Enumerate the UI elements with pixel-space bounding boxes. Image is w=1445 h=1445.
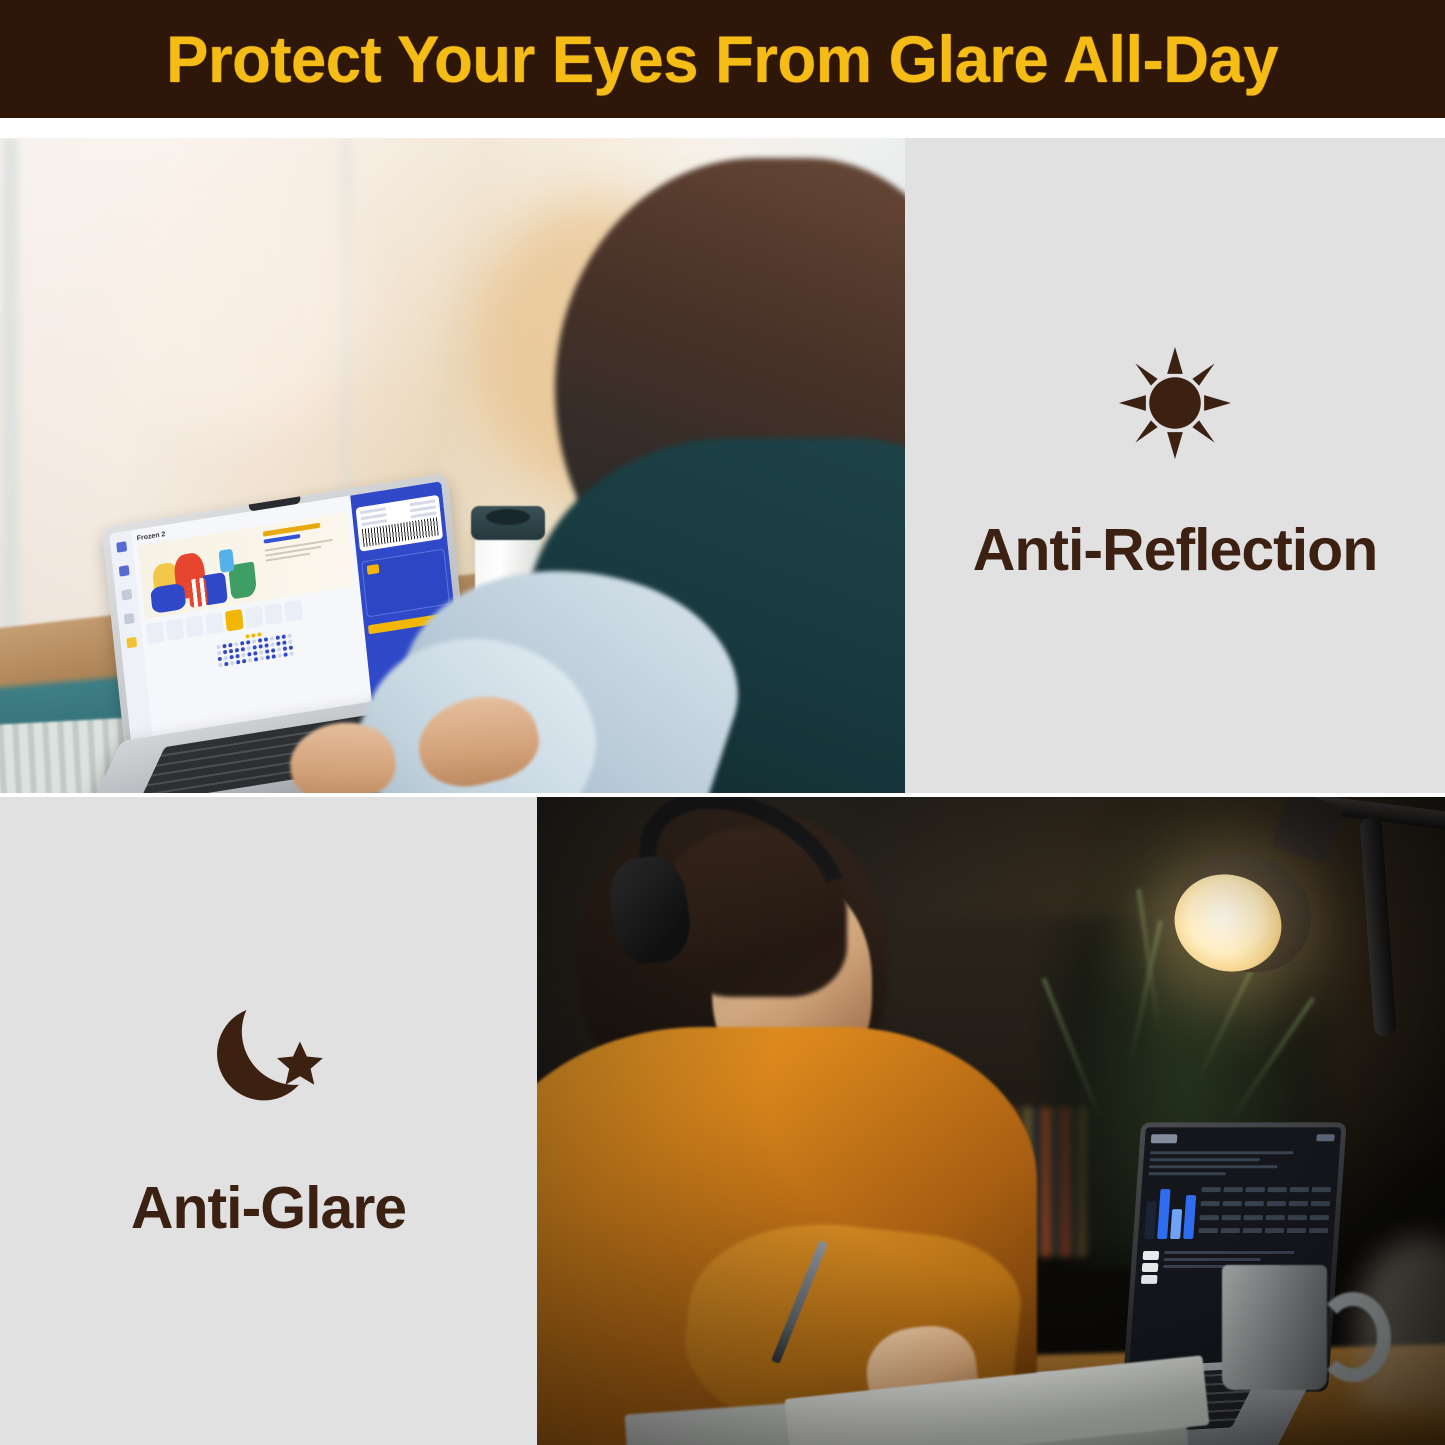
calendar-cell: [1266, 1215, 1285, 1220]
seat: [235, 654, 239, 659]
calendar-grid: [1198, 1187, 1331, 1239]
seat: [246, 640, 250, 645]
seat: [259, 650, 263, 655]
card-chip-icon: [367, 564, 380, 575]
calendar-cell: [1199, 1228, 1218, 1233]
seat: [253, 645, 257, 650]
hero-illustration: [138, 526, 265, 619]
seat: [235, 648, 239, 653]
calendar-cell: [1311, 1201, 1330, 1206]
dashboard-header: [1151, 1134, 1335, 1143]
date-chip: [284, 600, 303, 623]
seat: [272, 654, 276, 659]
page-title: Protect Your Eyes From Glare All-Day: [167, 26, 1279, 92]
seat: [278, 653, 282, 658]
hero-text-block: [257, 512, 354, 600]
dashboard-logo: [1151, 1134, 1178, 1143]
chart-bar: [1157, 1189, 1171, 1239]
feature-row-anti-reflection: Frozen 2: [0, 138, 1445, 793]
seat: [252, 639, 256, 644]
seat: [218, 657, 222, 662]
footer-thumb: [1142, 1263, 1159, 1272]
calendar-cell: [1288, 1215, 1307, 1220]
calendar-cell: [1200, 1215, 1219, 1220]
date-chip: [185, 615, 204, 638]
home-icon: [119, 565, 130, 577]
calendar-cell: [1244, 1215, 1263, 1220]
seat: [248, 658, 252, 663]
feature-panel-anti-glare: Anti-Glare: [0, 797, 537, 1445]
seat: [283, 652, 287, 657]
chart-bar: [1144, 1201, 1157, 1239]
search-icon: [121, 589, 132, 601]
calendar-cell: [1245, 1201, 1264, 1206]
seat: [229, 649, 233, 654]
seat: [287, 633, 291, 638]
header-banner: Protect Your Eyes From Glare All-Day: [0, 0, 1445, 118]
dashboard-text-line: [1149, 1165, 1278, 1168]
dashboard-text-line: [1164, 1258, 1262, 1261]
seat: [264, 643, 268, 648]
seat: [236, 660, 240, 665]
seat: [265, 649, 269, 654]
chart-bar: [1170, 1209, 1182, 1239]
window-bokeh: [120, 168, 360, 428]
payment-card: [361, 549, 450, 618]
seat: [241, 653, 245, 658]
ticket-icon: [124, 613, 135, 625]
dashboard-chart-row: [1144, 1187, 1331, 1239]
calendar-cell: [1243, 1228, 1262, 1233]
seat: [223, 650, 227, 655]
calendar-cell: [1287, 1228, 1306, 1233]
seat: [276, 635, 280, 640]
calendar-cell: [1222, 1215, 1241, 1220]
seat: [216, 645, 220, 650]
dashboard-menu-chip: [1316, 1134, 1335, 1141]
seat: [228, 643, 232, 648]
illustration-shape: [150, 583, 186, 614]
seat: [276, 641, 280, 646]
seat: [282, 640, 286, 645]
seat: [289, 651, 293, 656]
seat: [283, 646, 287, 651]
seat: [271, 648, 275, 653]
calendar-cell: [1221, 1228, 1240, 1233]
calendar-cell: [1290, 1187, 1309, 1192]
poster-page: Protect Your Eyes From Glare All-Day: [0, 0, 1445, 1445]
dashboard-text-line: [1148, 1172, 1225, 1175]
illustration-shape: [218, 549, 234, 573]
ticket-card: [356, 495, 444, 552]
seat: [270, 642, 274, 647]
date-chip: [205, 612, 224, 635]
coffee-mug: [1222, 1265, 1327, 1390]
seat: [224, 656, 228, 661]
seat: [270, 636, 274, 641]
date-chip: [166, 618, 185, 641]
seat: [247, 646, 251, 651]
seat: [240, 641, 244, 646]
seat: [282, 634, 286, 639]
date-chip: [146, 621, 165, 644]
seat: [253, 651, 257, 656]
seat: [289, 645, 293, 650]
seat: [251, 633, 255, 638]
seat: [222, 644, 226, 649]
seat: [247, 652, 251, 657]
popcorn-shape: [187, 577, 208, 608]
seat: [241, 647, 245, 652]
date-chip-selected: [225, 609, 244, 632]
feature-label-anti-reflection: Anti-Reflection: [973, 516, 1378, 584]
tumbler-opening: [486, 509, 530, 525]
photo-nighttime-study: [537, 797, 1445, 1445]
dashboard-text-line: [1150, 1151, 1293, 1154]
divider-below-banner: [0, 118, 1445, 138]
seat: [258, 644, 262, 649]
calendar-cell: [1201, 1187, 1220, 1192]
seat: [242, 659, 246, 664]
seat: [230, 661, 234, 666]
seat: [288, 639, 292, 644]
footer-thumb-stack: [1141, 1251, 1160, 1287]
moon-star-icon: [210, 1001, 328, 1118]
dashboard-text-line: [1164, 1251, 1294, 1254]
seat: [258, 638, 262, 643]
date-chip: [245, 606, 264, 629]
chart-bar: [1183, 1195, 1196, 1239]
sun-icon: [1119, 347, 1231, 464]
feature-label-anti-glare: Anti-Glare: [131, 1174, 406, 1242]
date-chip: [264, 603, 283, 626]
profile-icon: [126, 637, 137, 649]
seat: [254, 657, 258, 662]
calendar-cell: [1223, 1187, 1242, 1192]
photo-daytime-laptop: Frozen 2: [0, 138, 905, 793]
calendar-cell: [1246, 1187, 1265, 1192]
calendar-cell: [1223, 1201, 1242, 1206]
app-logo-icon: [116, 541, 127, 553]
calendar-cell: [1310, 1215, 1329, 1220]
calendar-cell: [1312, 1187, 1331, 1192]
seat: [277, 647, 281, 652]
seat: [218, 663, 222, 668]
seat: [260, 656, 264, 661]
calendar-cell: [1267, 1201, 1286, 1206]
seat: [266, 655, 270, 660]
divider-between-rows: [0, 793, 1445, 797]
feature-row-anti-glare: Anti-Glare: [0, 797, 1445, 1445]
seat: [234, 642, 238, 647]
seat: [217, 651, 221, 656]
feature-panel-anti-reflection: Anti-Reflection: [905, 138, 1445, 793]
seat: [257, 632, 261, 637]
mug-handle: [1315, 1292, 1391, 1382]
dashboard-text-line: [1149, 1158, 1259, 1161]
calendar-cell: [1265, 1228, 1284, 1233]
footer-thumb: [1143, 1251, 1160, 1260]
seat: [229, 655, 233, 660]
seat: [264, 637, 268, 642]
calendar-cell: [1200, 1201, 1219, 1206]
calendar-cell: [1268, 1187, 1287, 1192]
calendar-cell: [1309, 1228, 1328, 1233]
calendar-cell: [1289, 1201, 1308, 1206]
seat: [224, 662, 228, 667]
footer-thumb: [1141, 1275, 1158, 1284]
seat: [245, 634, 249, 639]
